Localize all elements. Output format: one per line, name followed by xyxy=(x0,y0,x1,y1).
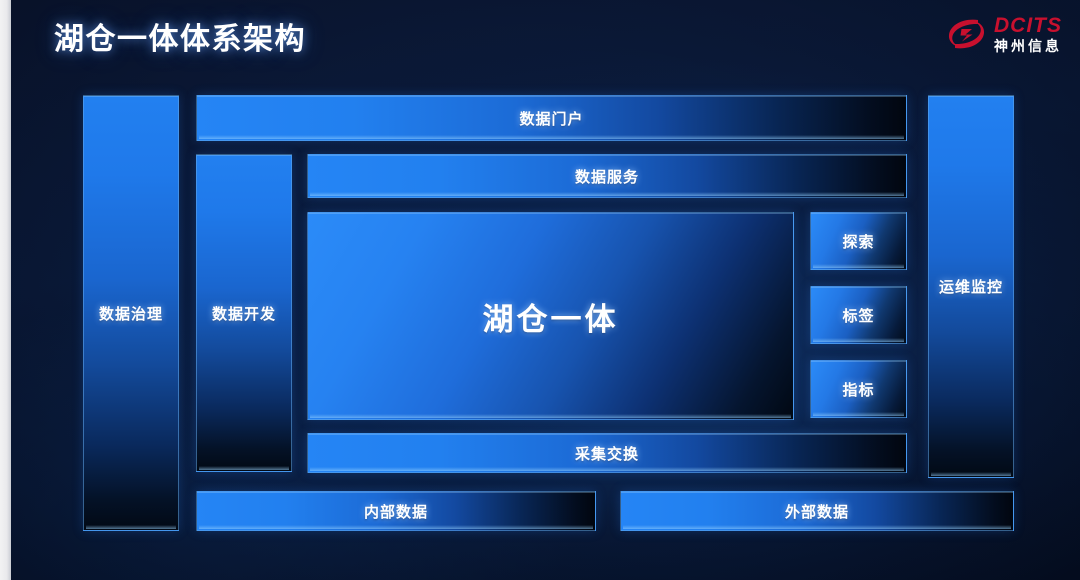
chip-tags-label: 标签 xyxy=(842,305,874,326)
left-edge-strip xyxy=(0,0,11,580)
slide-header: 湖仓一体体系架构 DCITS 神州信息 xyxy=(0,0,1080,72)
bar-data-portal[interactable]: 数据门户 xyxy=(196,95,907,141)
logo-english-name: DCITS xyxy=(994,15,1062,36)
bar-internal-data-label: 内部数据 xyxy=(364,501,428,522)
logo-chinese-name: 神州信息 xyxy=(994,39,1062,53)
core-lakehouse-label: 湖仓一体 xyxy=(483,294,619,339)
chip-metrics[interactable]: 指标 xyxy=(810,360,907,418)
company-logo: DCITS 神州信息 xyxy=(947,12,1062,56)
bar-data-service-label: 数据服务 xyxy=(575,166,639,187)
architecture-slide: 湖仓一体体系架构 DCITS 神州信息 数据治理 数据开发 运维监控 数据门户 … xyxy=(0,0,1080,580)
column-ops-monitoring-label: 运维监控 xyxy=(939,276,1003,297)
bar-data-service[interactable]: 数据服务 xyxy=(307,154,907,198)
chip-exploration[interactable]: 探索 xyxy=(810,212,907,270)
bar-data-portal-label: 数据门户 xyxy=(519,108,583,129)
column-data-development[interactable]: 数据开发 xyxy=(196,154,292,472)
chip-metrics-label: 指标 xyxy=(842,379,874,400)
bar-external-data[interactable]: 外部数据 xyxy=(620,491,1014,531)
chip-tags[interactable]: 标签 xyxy=(810,286,907,344)
column-data-development-label: 数据开发 xyxy=(212,303,276,324)
logo-wordmark: DCITS 神州信息 xyxy=(994,15,1062,53)
bar-collection-exchange-label: 采集交换 xyxy=(575,443,639,464)
column-data-governance[interactable]: 数据治理 xyxy=(83,95,179,531)
chip-exploration-label: 探索 xyxy=(842,231,874,252)
column-data-governance-label: 数据治理 xyxy=(99,303,163,324)
bar-collection-exchange[interactable]: 采集交换 xyxy=(307,433,907,473)
core-lakehouse-box[interactable]: 湖仓一体 xyxy=(307,212,794,420)
column-ops-monitoring[interactable]: 运维监控 xyxy=(928,95,1014,478)
bar-internal-data[interactable]: 内部数据 xyxy=(196,491,596,531)
swirl-logo-icon xyxy=(947,16,987,52)
page-title: 湖仓一体体系架构 xyxy=(54,14,306,58)
bar-external-data-label: 外部数据 xyxy=(785,501,849,522)
